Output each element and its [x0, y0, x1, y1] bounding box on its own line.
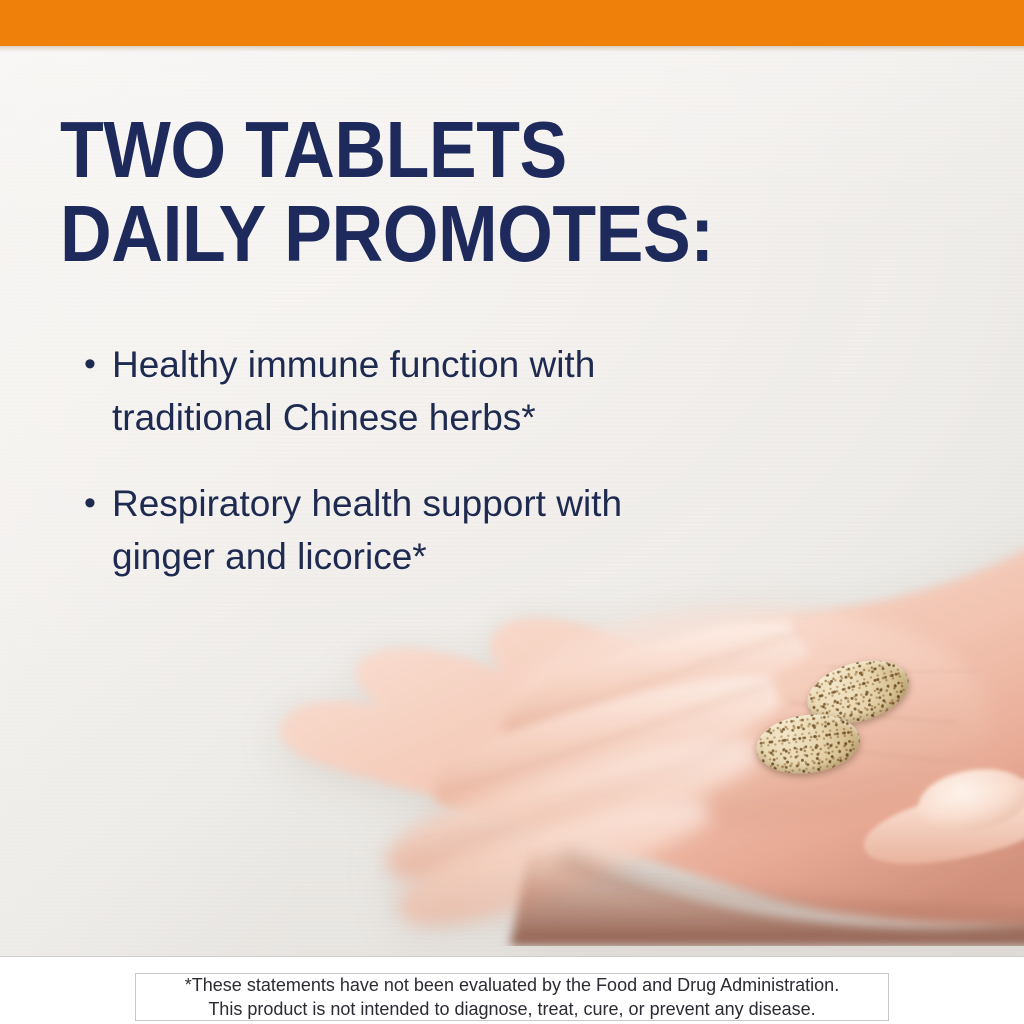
hand-photo [230, 526, 1024, 946]
disclaimer-line-2: This product is not intended to diagnose… [208, 997, 815, 1021]
benefit-text-2: Respiratory health support with ginger a… [112, 477, 720, 583]
top-accent-bar [0, 0, 1024, 46]
benefit-text-1: Healthy immune function with traditional… [112, 338, 720, 444]
disclaimer-box: *These statements have not been evaluate… [135, 973, 889, 1021]
top-accent-bar-shadow [0, 46, 1024, 52]
benefit-item-2: • Respiratory health support with ginger… [80, 477, 720, 583]
benefit-list: • Healthy immune function with tradition… [80, 338, 720, 583]
bullet-dot-icon: • [80, 338, 112, 391]
bullet-dot-icon: • [80, 477, 112, 530]
headline-line-1: TWO TABLETS [60, 108, 714, 192]
headline: TWO TABLETS DAILY PROMOTES: [60, 108, 714, 276]
product-image-canvas: TWO TABLETS DAILY PROMOTES: • Healthy im… [0, 0, 1024, 1024]
headline-line-2: DAILY PROMOTES: [60, 192, 714, 276]
disclaimer-line-1: *These statements have not been evaluate… [185, 973, 839, 997]
disclaimer-strip: *These statements have not been evaluate… [0, 956, 1024, 1024]
benefit-item-1: • Healthy immune function with tradition… [80, 338, 720, 444]
